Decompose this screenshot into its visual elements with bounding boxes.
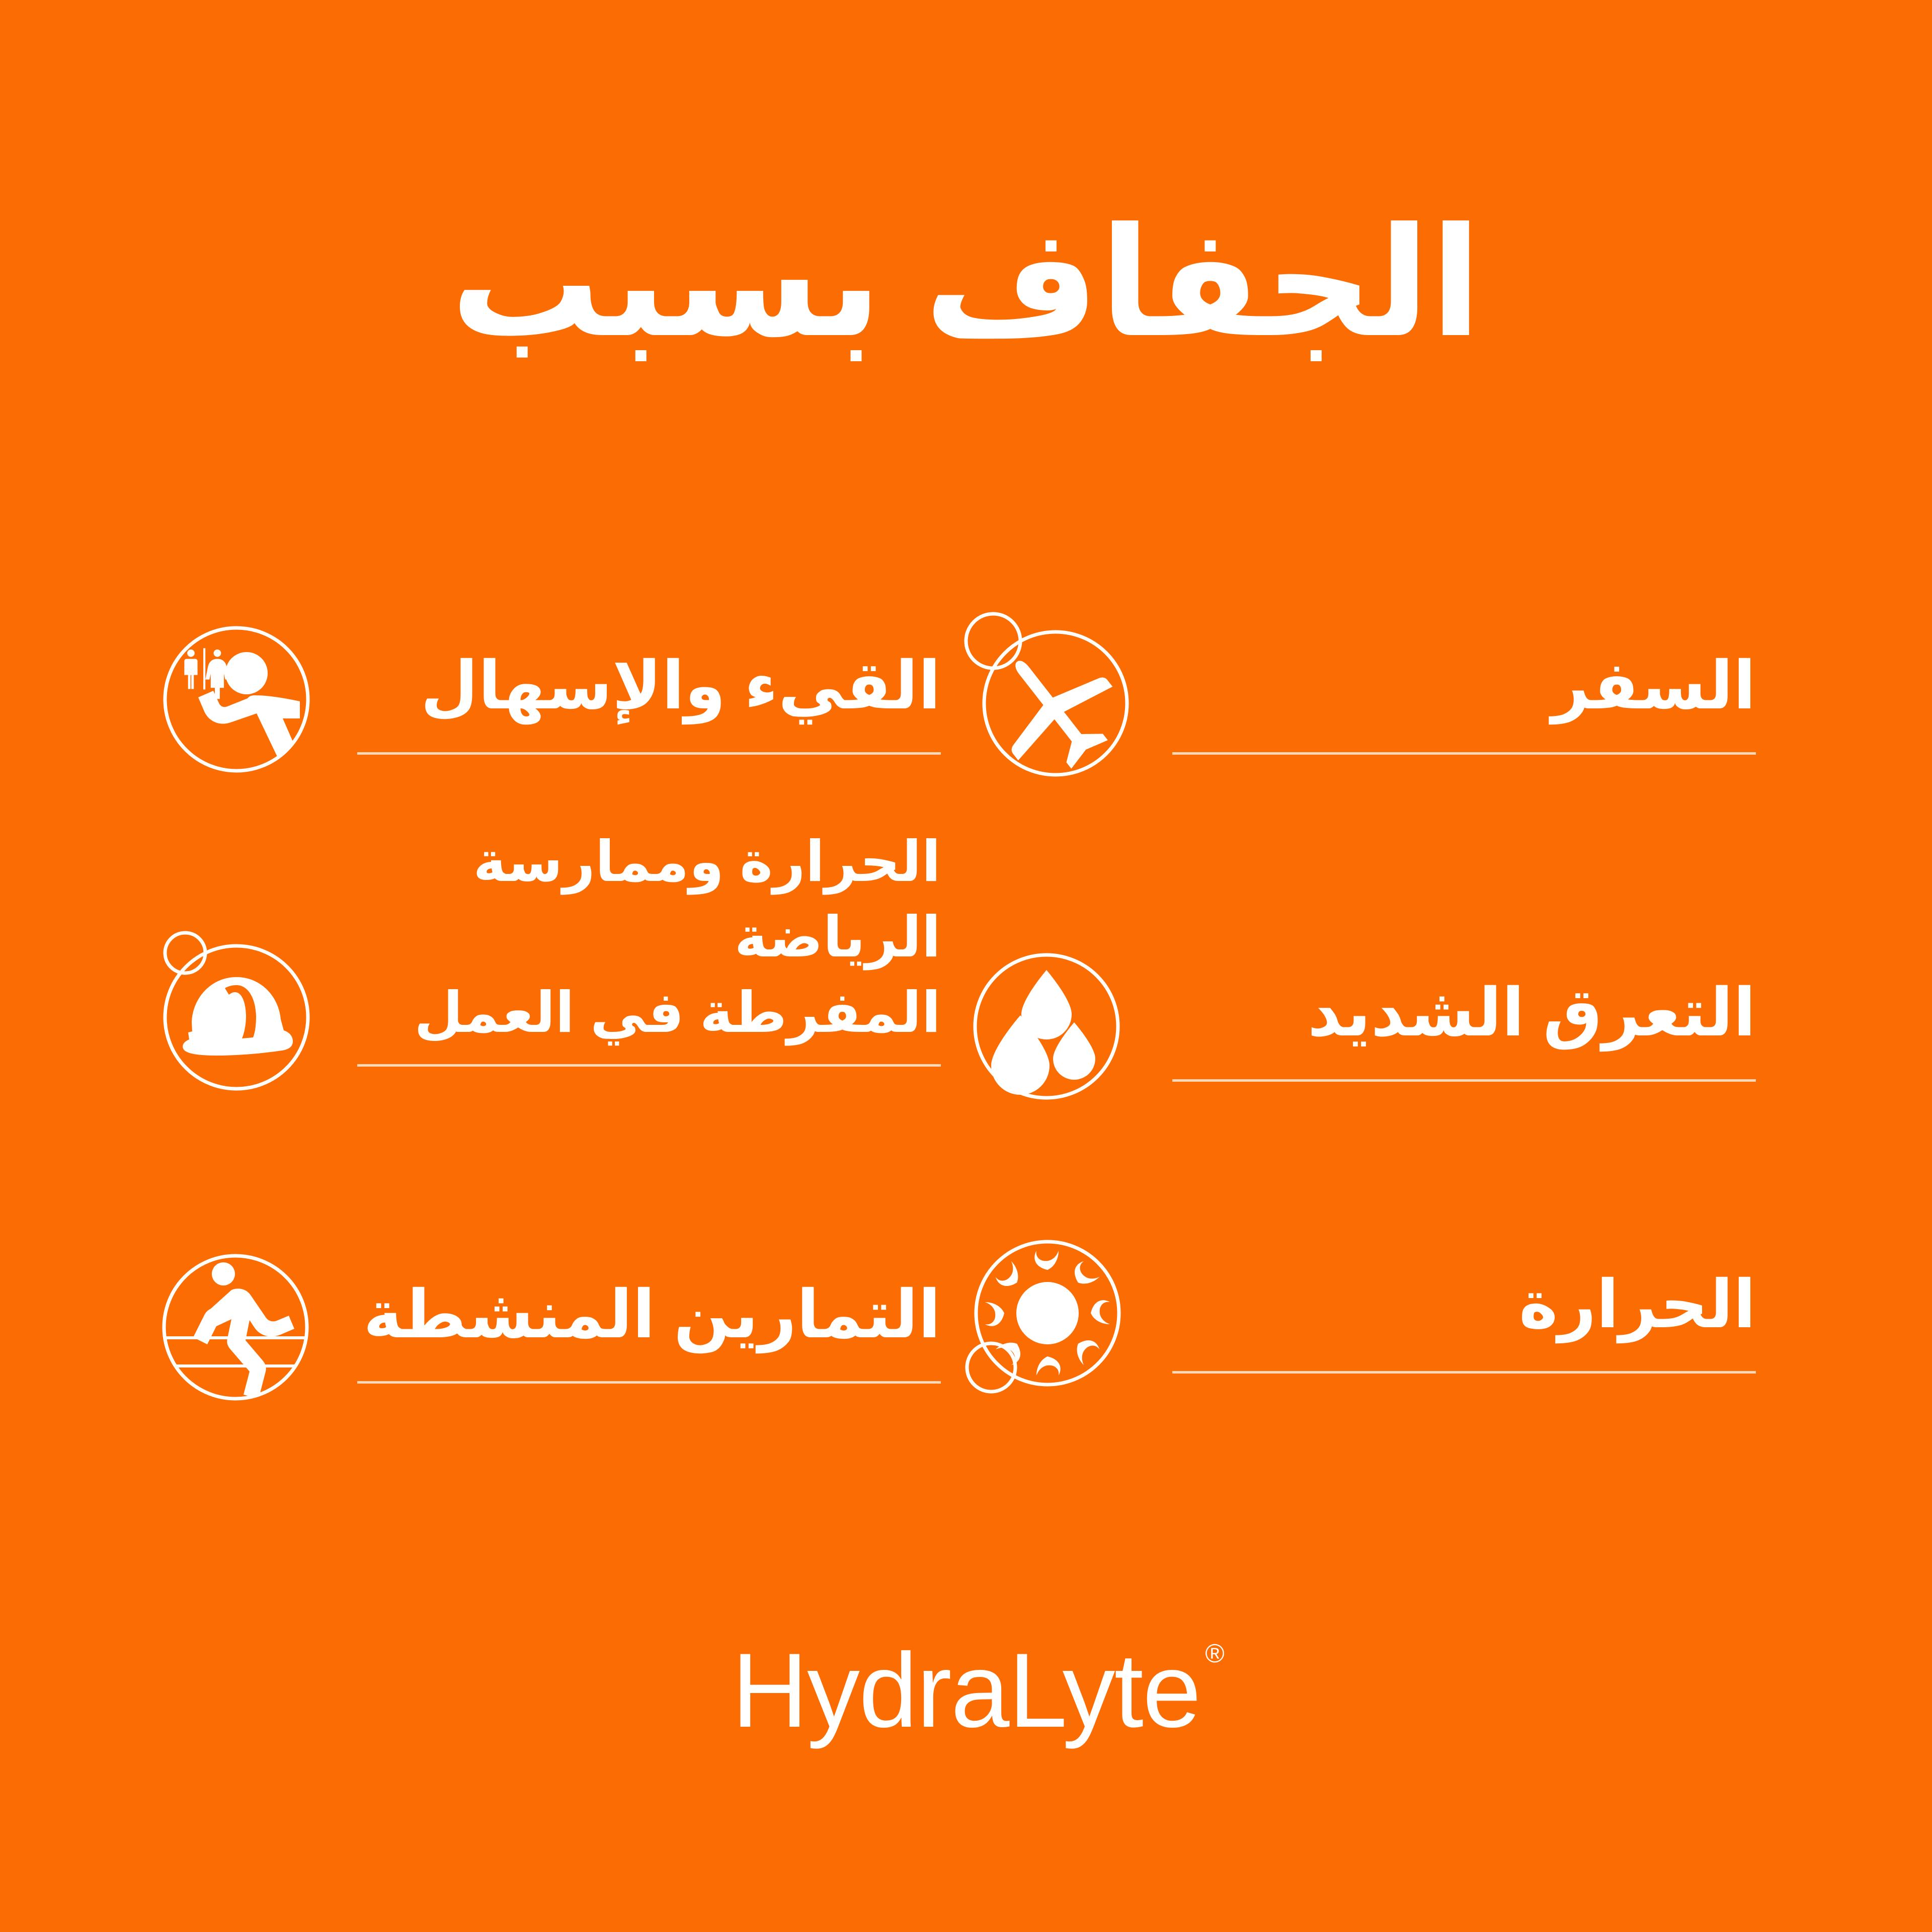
cause-label: القيء والإسهال: [347, 641, 941, 731]
dehydration-causes-poster: الجفاف بسبب السفر: [0, 0, 1932, 1932]
cause-label: التمارين المنشطة: [347, 1270, 941, 1359]
cause-divider: [357, 752, 941, 755]
brand-logo: HydraLyte®: [0, 1638, 1932, 1743]
cause-label: السفر: [1162, 641, 1756, 731]
page-title: الجفاف بسبب: [0, 186, 1932, 379]
cause-body: السفر: [1162, 619, 1756, 785]
cause-item-vomiting-diarrhea[interactable]: القيء والإسهال: [156, 619, 941, 835]
cause-body: التعرق الشديد: [1162, 946, 1756, 1112]
cause-label: الحرارة: [1162, 1260, 1756, 1349]
cause-item-heat[interactable]: الحرارة: [971, 1238, 1756, 1454]
cause-divider: [357, 1381, 941, 1384]
cause-item-work-heat-exertion[interactable]: الحرارة وممارسة الرياضة المفرطة في العمل: [156, 931, 941, 1147]
sweat-droplets-icon: [971, 946, 1132, 1107]
brand-name: HydraLyte: [732, 1631, 1200, 1749]
running-person-icon: [156, 1248, 317, 1409]
cause-body: الحرارة: [1162, 1238, 1756, 1404]
cause-body: القيء والإسهال: [347, 619, 941, 785]
cause-label: التعرق الشديد: [1162, 969, 1756, 1058]
cause-label: الحرارة وممارسة الرياضة المفرطة في العمل: [347, 824, 941, 1051]
cause-divider: [357, 1064, 941, 1067]
registered-trademark-icon: ®: [1205, 1641, 1223, 1667]
cause-item-heavy-sweating[interactable]: التعرق الشديد: [971, 946, 1756, 1162]
cause-body: التمارين المنشطة: [347, 1248, 941, 1414]
airplane-icon: [971, 619, 1132, 780]
brand-logo-text: HydraLyte®: [732, 1638, 1200, 1743]
hard-hat-icon: [156, 931, 317, 1092]
vomiting-diarrhea-icon: [156, 619, 317, 780]
cause-divider: [1172, 752, 1756, 755]
cause-body: الحرارة وممارسة الرياضة المفرطة في العمل: [347, 931, 941, 1097]
cause-divider: [1172, 1371, 1756, 1374]
causes-grid: السفر التعرق الشديد: [0, 619, 1932, 1474]
cause-item-active-exercise[interactable]: التمارين المنشطة: [156, 1248, 941, 1464]
cause-item-travel[interactable]: السفر: [971, 619, 1756, 835]
sun-icon: [971, 1238, 1132, 1399]
cause-divider: [1172, 1079, 1756, 1082]
